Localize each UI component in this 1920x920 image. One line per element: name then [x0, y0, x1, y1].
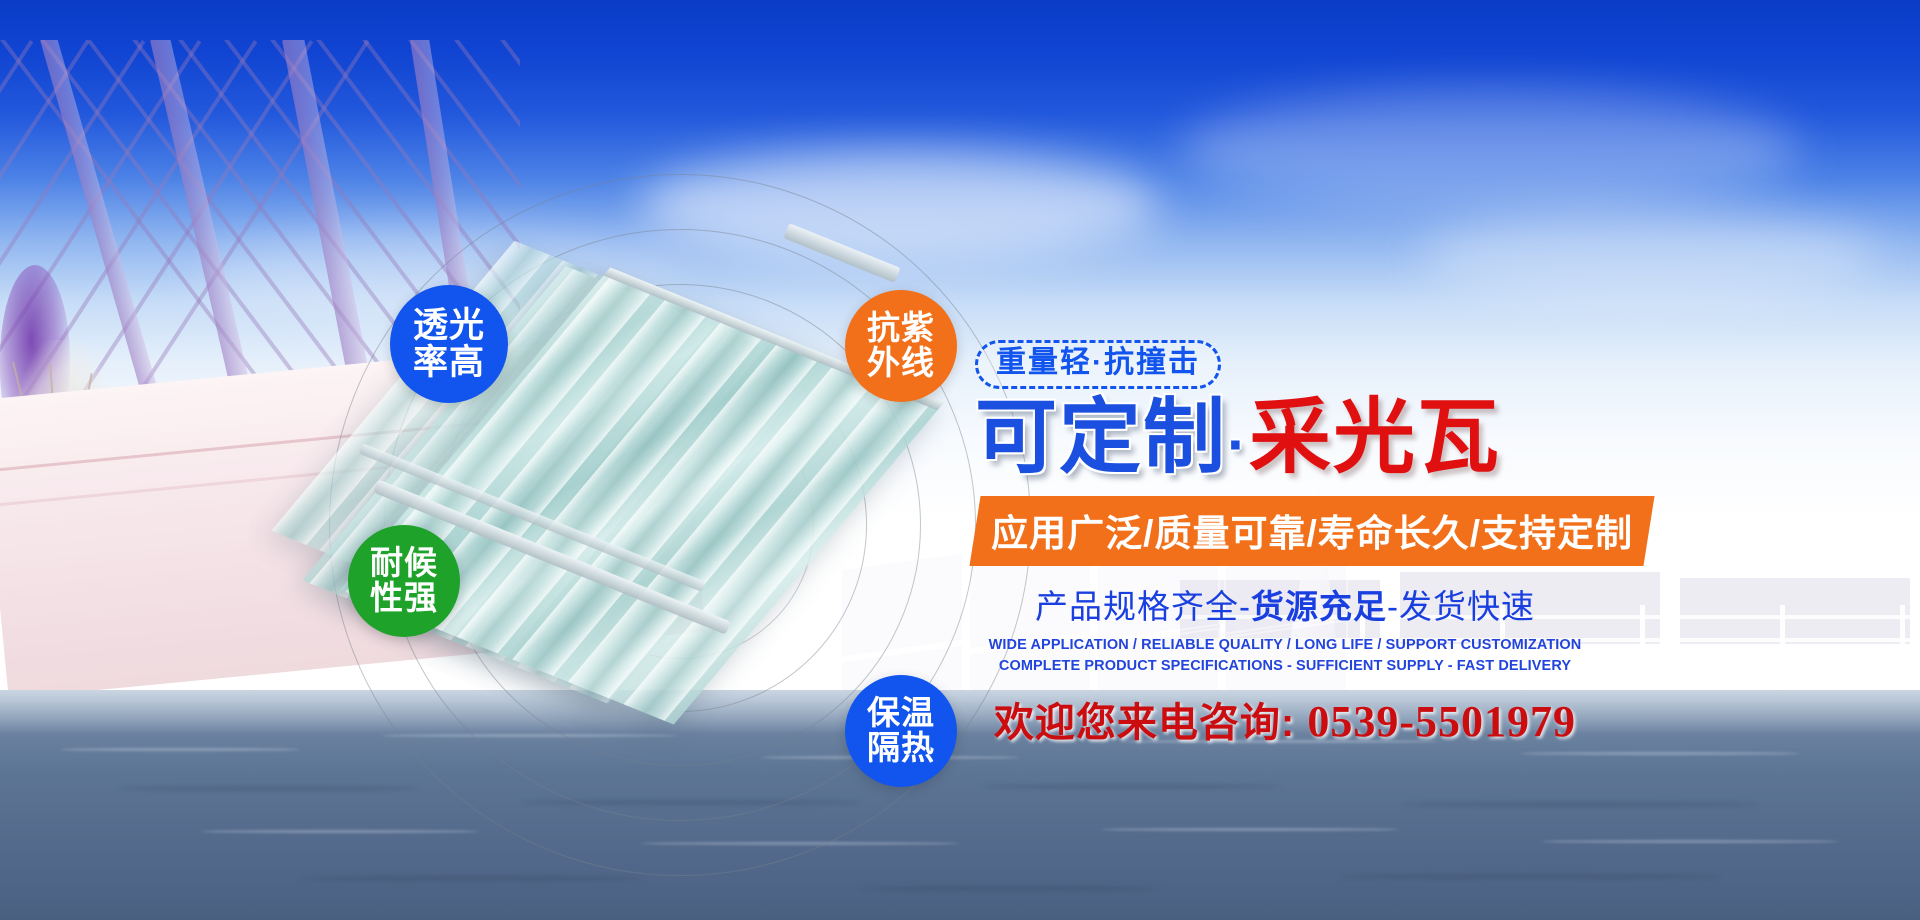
features-orange-bar-text: 应用广泛/质量可靠/寿命长久/支持定制	[991, 503, 1633, 557]
product-banner: 透光 率高 抗紫 外线 耐候 性强 保温 隔热 重量轻·抗撞击 可定制·采光瓦 …	[0, 0, 1920, 920]
feature-badge-light-transmission[interactable]: 透光 率高	[390, 285, 508, 403]
marketing-copy-block: 重量轻·抗撞击 可定制·采光瓦 应用广泛/质量可靠/寿命长久/支持定制 产品规格…	[975, 340, 1595, 748]
cloud-wisp	[1420, 210, 1880, 300]
water-horizon-fade	[0, 690, 1920, 734]
feature-badge-weather-resistant[interactable]: 耐候 性强	[348, 525, 460, 637]
english-subtitle-line-2: COMPLETE PRODUCT SPECIFICATIONS - SUFFIC…	[975, 658, 1595, 674]
water-surface	[0, 690, 1920, 920]
headline-blue-text: 可定制	[975, 392, 1227, 483]
badge-line-2: 隔热	[867, 731, 935, 766]
english-subtitle-line-1: WIDE APPLICATION / RELIABLE QUALITY / LO…	[975, 637, 1595, 653]
badge-line-1: 保温	[867, 696, 935, 731]
page-title: 可定制·采光瓦	[975, 395, 1595, 480]
supply-subline: 产品规格齐全-货源充足-发货快速	[975, 580, 1595, 628]
badge-line-1: 抗紫	[867, 311, 935, 346]
contact-phone[interactable]: 欢迎您来电咨询: 0539-5501979	[975, 690, 1595, 748]
subline-highlight: 货源充足	[1251, 588, 1387, 625]
cloud-wisp	[640, 150, 1160, 260]
building-block	[1680, 578, 1910, 644]
headline-separator: ·	[1227, 411, 1249, 478]
features-orange-bar: 应用广泛/质量可靠/寿命长久/支持定制	[969, 496, 1654, 566]
cloud-wisp	[1180, 90, 1800, 210]
tagline-pill: 重量轻·抗撞击	[975, 340, 1221, 389]
subline-part-2: -发货快速	[1387, 588, 1535, 625]
badge-line-2: 外线	[867, 346, 935, 381]
feature-badge-uv-resistant[interactable]: 抗紫 外线	[845, 290, 957, 402]
badge-line-2: 性强	[370, 581, 438, 616]
subline-part-1: 产品规格齐全-	[1035, 588, 1251, 625]
phone-label: 欢迎您来电咨询:	[994, 701, 1295, 745]
badge-line-2: 率高	[413, 344, 485, 381]
badge-line-1: 耐候	[370, 546, 438, 581]
headline-red-text: 采光瓦	[1249, 392, 1501, 483]
badge-line-1: 透光	[413, 307, 485, 344]
feature-badge-thermal-insulation[interactable]: 保温 隔热	[845, 675, 957, 787]
phone-number: 0539-5501979	[1307, 697, 1576, 746]
